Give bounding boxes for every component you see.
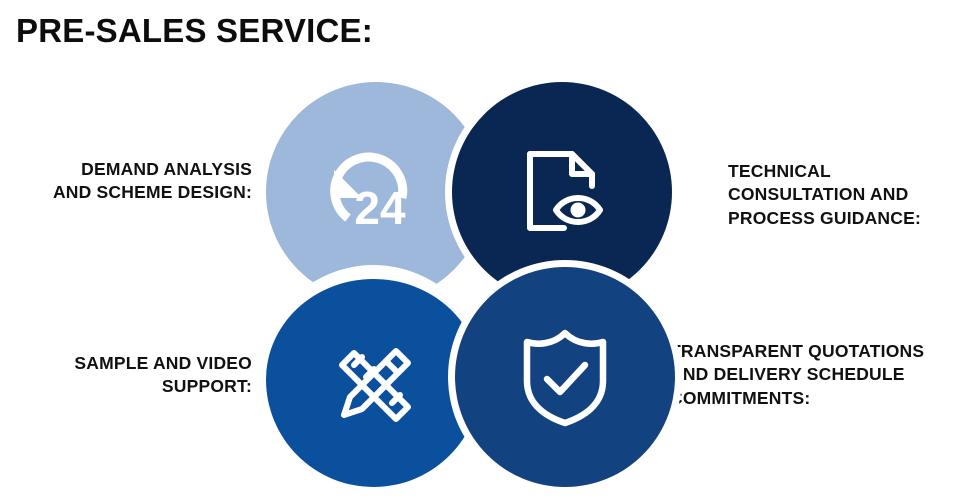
label-line: SAMPLE AND VIDEO [0,352,252,375]
circle-cluster: 24 [262,82,672,482]
circle-sample-video-support[interactable] [266,272,481,487]
label-line: CONSULTATION AND [728,183,950,206]
label-line: DEMAND ANALYSIS [0,158,252,181]
pre-sales-service-infographic: PRE-SALES SERVICE: 24 [0,0,960,498]
page-title: PRE-SALES SERVICE: [16,12,373,50]
pencil-ruler-icon [324,333,424,433]
shield-check-icon [515,325,615,429]
label-line: PROCESS GUIDANCE: [728,207,950,230]
label-line: AND SCHEME DESIGN: [0,181,252,204]
label-transparent-quotations: TRANSPARENT QUOTATIONS AND DELIVERY SCHE… [670,340,958,410]
label-sample-video-support: SAMPLE AND VIDEO SUPPORT: [0,352,252,399]
label-line: SUPPORT: [0,375,252,398]
label-line: COMMITMENTS: [670,387,958,410]
document-eye-icon [512,142,612,242]
label-line: TECHNICAL [728,160,950,183]
24-hour-rotate-icon: 24 [324,140,428,244]
circle-transparent-quotations[interactable] [455,267,675,487]
label-line: AND DELIVERY SCHEDULE [670,363,958,386]
label-demand-analysis: DEMAND ANALYSIS AND SCHEME DESIGN: [0,158,252,205]
label-line: TRANSPARENT QUOTATIONS [670,340,958,363]
label-technical-consultation: TECHNICAL CONSULTATION AND PROCESS GUIDA… [728,160,950,230]
svg-text:24: 24 [354,182,406,234]
